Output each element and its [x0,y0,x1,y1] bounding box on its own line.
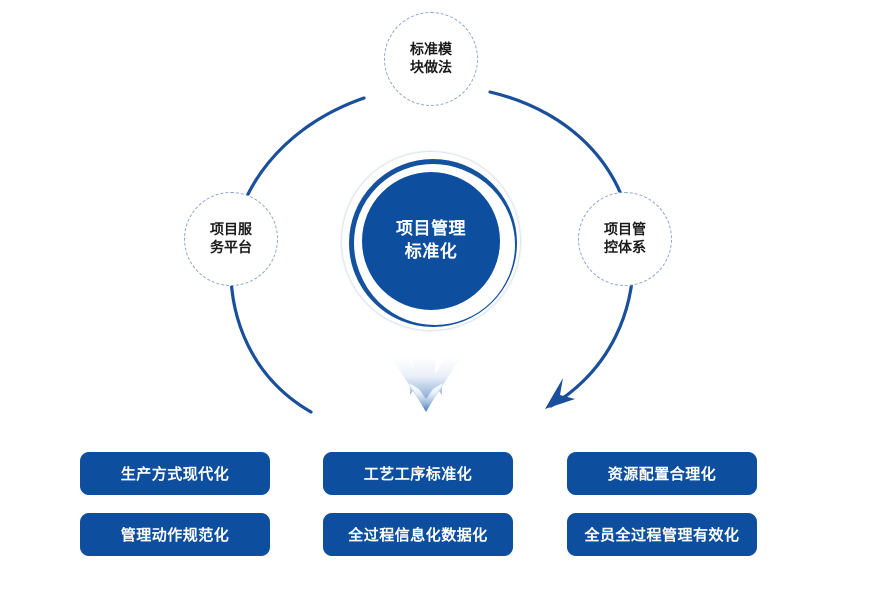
down-arrow-icon [389,355,463,425]
node-right-label-line1: 项目管 [604,222,646,238]
hub-label: 项目管理 标准化 [396,218,466,264]
node-standard-module-practice[interactable]: 标准模 块做法 [384,12,478,106]
center-hub[interactable]: 项目管理 标准化 [341,151,521,331]
outcome-box-label: 全员全过程管理有效化 [584,524,739,545]
node-left-label-line1: 项目服 [210,222,252,238]
outcome-box-production-modernization[interactable]: 生产方式现代化 [80,452,270,495]
outcome-box-label: 生产方式现代化 [121,463,230,484]
outcome-box-full-process-digitization[interactable]: 全过程信息化数据化 [323,513,513,556]
hub-core: 项目管理 标准化 [362,172,500,310]
outcome-box-label: 资源配置合理化 [608,463,717,484]
hub-label-line2: 标准化 [405,242,458,262]
outcome-row: 生产方式现代化 工艺工序标准化 资源配置合理化 [0,452,884,495]
node-top-label-line2: 块做法 [410,60,452,76]
outcome-box-label: 工艺工序标准化 [364,463,473,484]
node-project-control-system[interactable]: 项目管 控体系 [578,192,672,286]
outcome-box-label: 全过程信息化数据化 [348,524,488,545]
node-top-label: 标准模 块做法 [410,41,452,77]
node-project-service-platform[interactable]: 项目服 务平台 [184,192,278,286]
node-left-label-line2: 务平台 [210,240,252,256]
outcome-box-resource-allocation[interactable]: 资源配置合理化 [567,452,757,495]
node-left-label: 项目服 务平台 [210,221,252,257]
outcome-box-management-standardization[interactable]: 管理动作规范化 [80,513,270,556]
node-right-label: 项目管 控体系 [604,221,646,257]
outcome-box-process-standardization[interactable]: 工艺工序标准化 [323,452,513,495]
node-right-label-line2: 控体系 [604,240,646,256]
hub-label-line1: 项目管理 [396,219,466,239]
node-top-label-line1: 标准模 [410,42,452,58]
outcome-box-all-staff-effectiveness[interactable]: 全员全过程管理有效化 [567,513,757,556]
outcome-row: 管理动作规范化 全过程信息化数据化 全员全过程管理有效化 [0,513,884,556]
diagram-canvas: 项目管理 标准化 标准模 块做法 项目服 务平台 项目管 控体系 [0,0,884,590]
outcome-box-label: 管理动作规范化 [121,524,230,545]
